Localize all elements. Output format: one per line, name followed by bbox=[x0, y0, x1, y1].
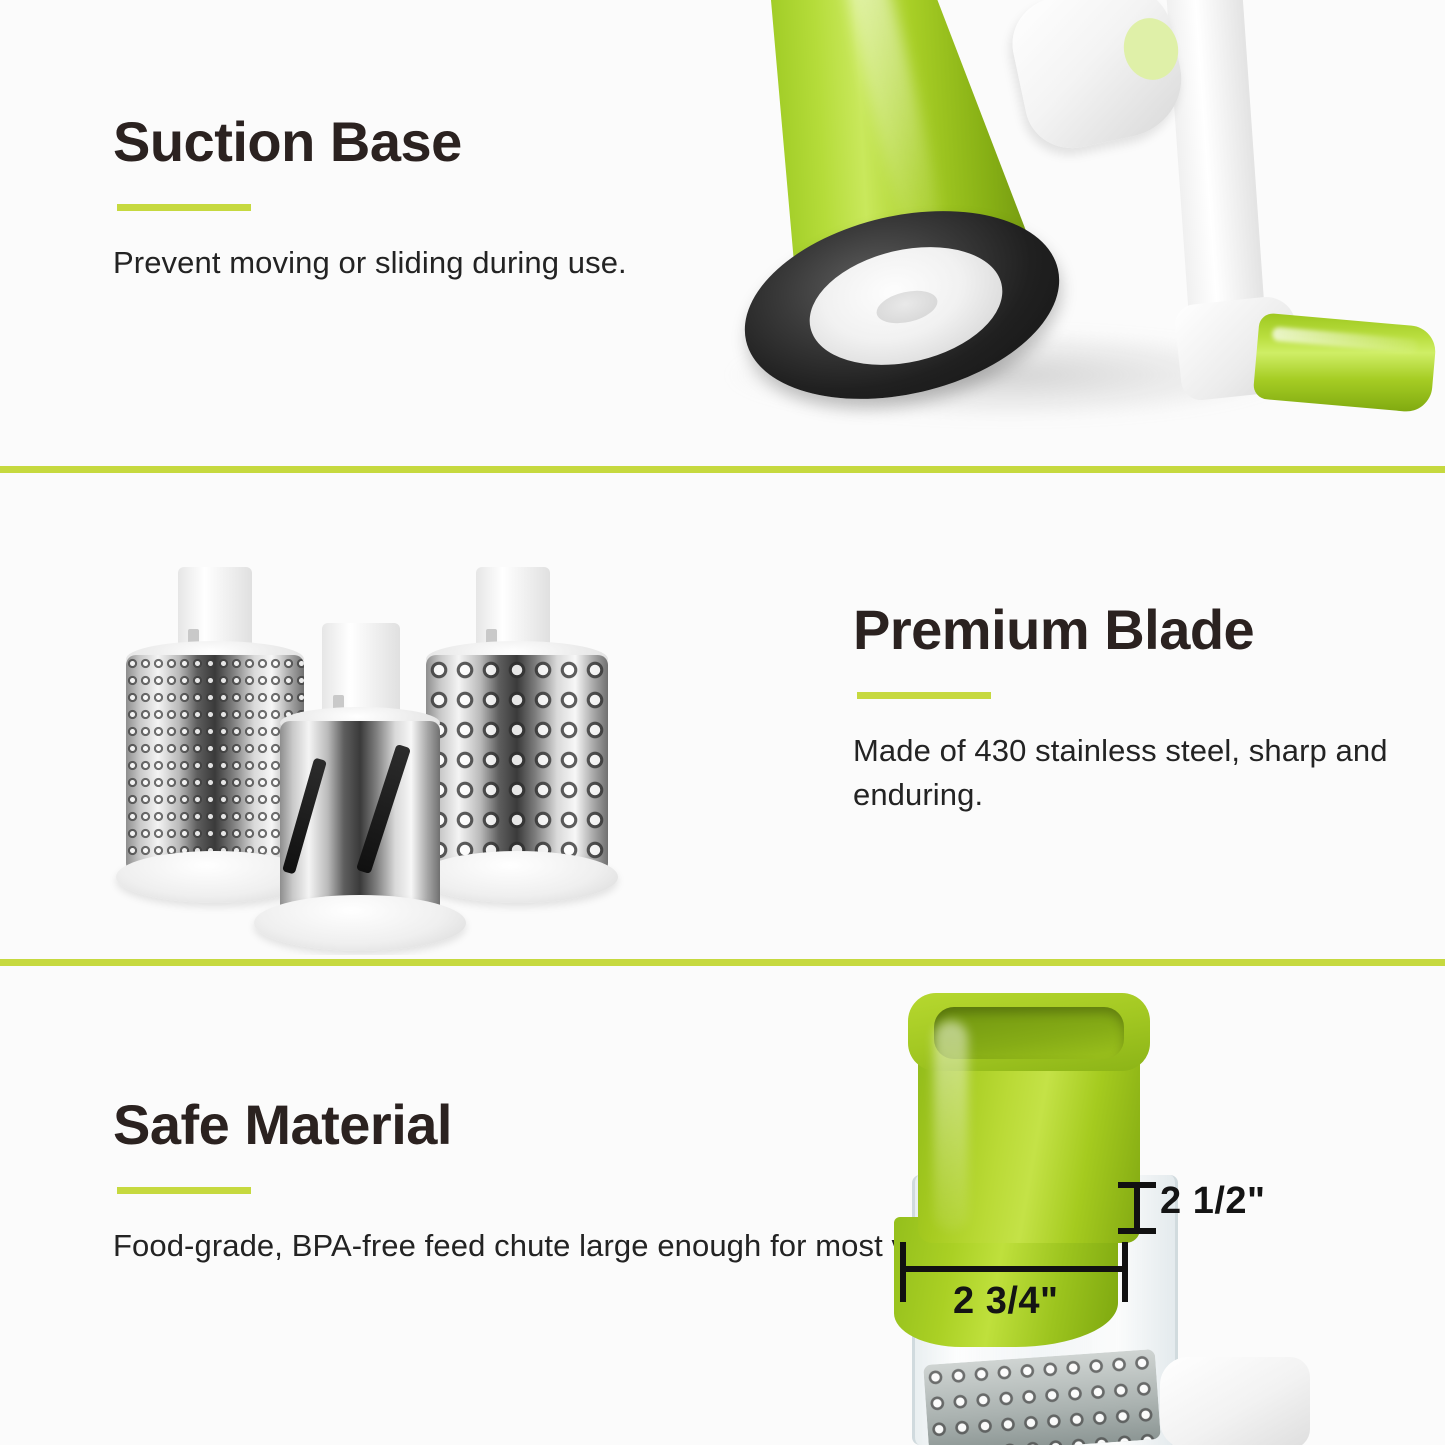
feature-heading: Suction Base bbox=[113, 113, 627, 172]
accent-underline bbox=[117, 1187, 251, 1194]
drum-stem bbox=[322, 623, 400, 719]
dimension-label: 2 3/4" bbox=[953, 1280, 1059, 1323]
premium-blade-product-image bbox=[88, 505, 648, 955]
feature-suction-base: Suction Base Prevent moving or sliding d… bbox=[113, 113, 627, 285]
stainless-drum bbox=[923, 1349, 1161, 1445]
drum-base-disc bbox=[254, 895, 466, 951]
dimension-cap-right bbox=[1122, 1242, 1128, 1302]
drum-chrome-barrel bbox=[280, 721, 440, 921]
suction-base-product-image bbox=[700, 0, 1445, 462]
feature-heading: Premium Blade bbox=[853, 601, 1445, 660]
dimension-label: 2 1/2" bbox=[1160, 1180, 1266, 1223]
white-end-knob bbox=[1160, 1357, 1310, 1445]
feature-premium-blade: Premium Blade Made of 430 stainless stee… bbox=[853, 601, 1445, 817]
accent-underline bbox=[857, 692, 991, 699]
drum-blade-slicer bbox=[254, 623, 466, 935]
section-divider-1 bbox=[0, 466, 1445, 473]
dimension-cap-bottom bbox=[1118, 1228, 1156, 1234]
slicer-slot bbox=[282, 757, 327, 874]
feature-body: Made of 430 stainless steel, sharp and e… bbox=[853, 729, 1445, 817]
dimension-shaft bbox=[900, 1266, 1128, 1272]
section-divider-2 bbox=[0, 959, 1445, 966]
dimension-shaft bbox=[1134, 1182, 1140, 1234]
dimension-cap-left bbox=[900, 1242, 906, 1302]
accent-underline bbox=[117, 204, 251, 211]
chute-highlight bbox=[934, 1021, 968, 1231]
feature-body: Prevent moving or sliding during use. bbox=[113, 241, 627, 285]
slicer-slot bbox=[356, 744, 411, 874]
product-feature-infographic: Suction Base Prevent moving or sliding d… bbox=[0, 0, 1445, 1445]
